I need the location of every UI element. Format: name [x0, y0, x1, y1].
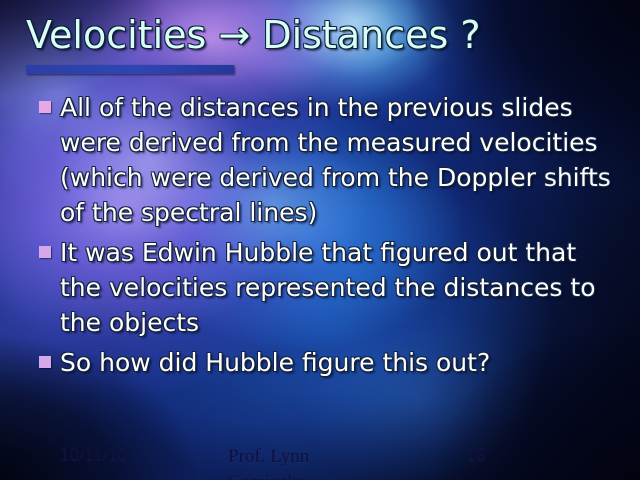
slide-footer: 10/11/10 Prof. Lynn Cominsky 16: [0, 440, 640, 480]
list-item-label: So how did Hubble figure this out?: [60, 345, 612, 380]
list-item: So how did Hubble figure this out?: [32, 345, 612, 380]
bullet-list: All of the distances in the previous sli…: [32, 90, 612, 385]
title-underline-rule: [26, 65, 234, 74]
footer-date: 10/11/10: [60, 444, 127, 466]
footer-author-line2: Cominsky: [228, 470, 398, 480]
list-item-label: It was Edwin Hubble that figured out tha…: [60, 235, 612, 340]
title-block: Velocities → Distances ?: [26, 16, 616, 74]
list-item: It was Edwin Hubble that figured out tha…: [32, 235, 612, 340]
list-item-label: All of the distances in the previous sli…: [60, 90, 612, 230]
list-item: All of the distances in the previous sli…: [32, 90, 612, 230]
footer-page-number: 16: [466, 444, 485, 466]
square-bullet-icon: [39, 356, 51, 368]
square-bullet-icon: [39, 246, 51, 258]
square-bullet-icon: [39, 101, 51, 113]
page-title: Velocities → Distances ?: [26, 16, 616, 56]
footer-author-line1: Prof. Lynn: [228, 446, 309, 467]
presentation-slide: Velocities → Distances ? All of the dist…: [0, 0, 640, 480]
footer-author: Prof. Lynn Cominsky: [228, 444, 398, 480]
